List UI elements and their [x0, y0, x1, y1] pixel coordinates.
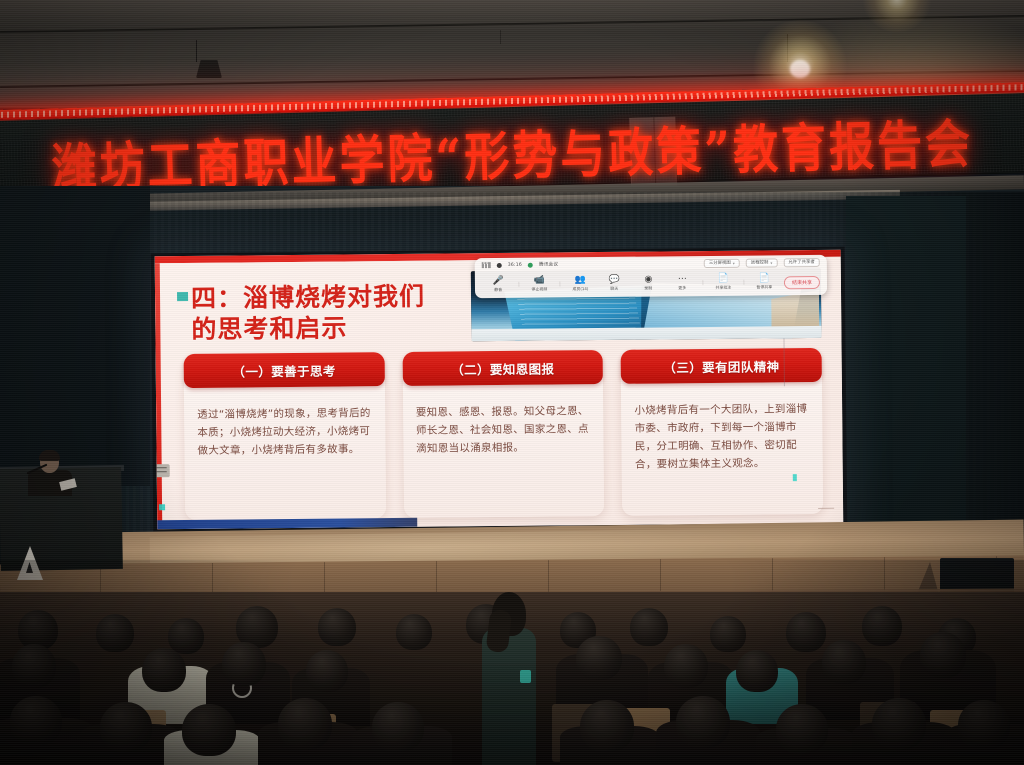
right-wall-panel [846, 196, 966, 568]
projection-screen: 四：淄博烧烤对我们 的思考和启示 36:16 [151, 247, 848, 542]
participants-icon: 👥 [575, 276, 586, 285]
audience-head [958, 700, 1010, 750]
audience-head [920, 632, 966, 678]
card-header-label: （一）要善于思考 [232, 360, 335, 380]
slide-title-line-2: 的思考和启示 [191, 311, 511, 345]
audience-head [96, 614, 134, 652]
allow-annotate-label: 允许了共享者 [788, 259, 814, 265]
slide-title-line-1: 四：淄博烧烤对我们 [191, 281, 511, 315]
clock-icon [497, 262, 502, 267]
audience-head [222, 642, 266, 686]
meeting-tool-video[interactable]: 📹 停止视频 [523, 276, 556, 292]
audience-head [872, 698, 926, 750]
card-body-text: 透过“淄博烧烤”的现象，思考背后的本质；小烧烤拉动大经济，小烧烤可做大文章，小烧… [184, 392, 385, 470]
record-icon: ◉ [644, 276, 652, 285]
audience-head [372, 702, 424, 752]
tool-label: 聊天 [611, 286, 619, 292]
projected-slide: 四：淄博烧烤对我们 的思考和启示 36:16 [155, 250, 844, 530]
tool-label: 停止视频 [532, 287, 548, 293]
meeting-timer: 36:16 [508, 262, 522, 267]
audience-head [142, 648, 186, 692]
signal-icon [482, 262, 491, 268]
chevron-down-icon: ▾ [733, 260, 735, 265]
audience-head [676, 696, 730, 748]
audience-head [580, 700, 634, 752]
meeting-tool-mute[interactable]: 🎤 静音 [482, 277, 515, 293]
end-share-button[interactable]: 结束共享 [784, 275, 820, 288]
left-wall-panel [0, 186, 150, 486]
audience-head [168, 618, 204, 654]
card-header: （三）要有团队精神 [621, 348, 822, 384]
chevron-down-icon: ▾ [770, 260, 772, 265]
screen-teal-marker [793, 474, 797, 481]
tool-label: 暂停共享 [757, 285, 773, 291]
pause-share-icon: 📄 [759, 274, 770, 283]
slide-title: 四：淄博烧烤对我们 的思考和启示 [191, 281, 512, 345]
audience-head [278, 698, 332, 750]
audience-head [776, 704, 828, 754]
audience-head [10, 696, 62, 746]
card-header-label: （三）要有团队精神 [663, 356, 779, 376]
audience-head [100, 702, 152, 752]
app-logo-icon [528, 262, 533, 267]
meeting-tool-row: 🎤 静音 | 📹 停止视频 | 👥 成员(14) 💬 [475, 269, 827, 298]
audience-head [12, 644, 56, 688]
tool-separator: | [741, 280, 747, 286]
audience-head [182, 704, 236, 756]
audience-head [822, 640, 866, 684]
tool-separator: | [700, 280, 706, 286]
audience-head [630, 608, 668, 646]
meeting-tool-chat[interactable]: 💬 聊天 [598, 276, 631, 292]
meeting-tool-record[interactable]: ◉ 录制 [632, 275, 665, 291]
card-header-label: （二）要知恩图报 [451, 358, 554, 378]
tool-label: 录制 [645, 286, 653, 292]
audience-head [396, 614, 432, 650]
remote-control-label: 远程控制 [751, 259, 769, 265]
audience-head [862, 606, 902, 646]
tool-label: 更多 [679, 285, 687, 291]
meeting-toolbar[interactable]: 36:16 腾讯会议 三分屏视图 ▾ 远程控制 ▾ 允许了共享者 [475, 255, 827, 298]
tool-separator: | [516, 282, 522, 288]
meeting-tool-more[interactable]: ⋯ 更多 [666, 275, 699, 291]
slide-cards: （一）要善于思考 透过“淄博烧烤”的现象，思考背后的本质；小烧烤拉动大经济，小烧… [184, 354, 824, 520]
audience-head [736, 650, 778, 692]
slide-corner-mark [818, 507, 834, 509]
screen-teal-marker [159, 504, 165, 510]
audience-head [318, 608, 356, 646]
chat-icon: 💬 [609, 276, 620, 285]
auditorium-photo: 潍坊工商职业学院“形势与政策”教育报告会 四：淄博烧烤对我们 的思考和启示 [0, 0, 1024, 765]
allow-annotate-button[interactable]: 允许了共享者 [783, 257, 819, 266]
standing-attendee [478, 592, 542, 765]
meeting-app-name: 腾讯会议 [539, 261, 558, 267]
lanyard-badge-icon [520, 670, 531, 683]
meeting-tool-pause-share[interactable]: 📄 暂停共享 [748, 274, 781, 290]
card-header: （二）要知恩图报 [402, 350, 603, 386]
slide-card: （三）要有团队精神 小烧烤背后有一个大团队，上到淄博市委、市政府，下到每一个淄博… [621, 354, 823, 516]
tool-separator: | [557, 281, 563, 287]
microphone-icon: 🎤 [493, 277, 504, 286]
annotate-icon: 📄 [718, 275, 729, 284]
audience-head [786, 612, 826, 652]
remote-control-button[interactable]: 远程控制 ▾ [746, 258, 778, 267]
camera-icon: 📹 [534, 277, 545, 286]
meeting-tool-annotate[interactable]: 📄 共享批注 [707, 275, 740, 291]
meeting-tool-participants[interactable]: 👥 成员(14) [564, 276, 597, 292]
view-mode-label: 三分屏视图 [709, 260, 731, 266]
tool-label: 静音 [495, 287, 503, 293]
title-marker-icon [177, 292, 188, 301]
slide-card: （一）要善于思考 透过“淄博烧烤”的现象，思考背后的本质；小烧烤拉动大经济，小烧… [184, 358, 386, 520]
card-body-text: 小烧烤背后有一个大团队，上到淄博市委、市政府，下到每一个淄博市民，分工明确、互相… [621, 388, 823, 484]
tool-label: 共享批注 [716, 285, 732, 291]
audience-head [306, 650, 348, 692]
more-icon: ⋯ [678, 275, 687, 284]
view-mode-dropdown[interactable]: 三分屏视图 ▾ [704, 258, 740, 267]
audience-head [664, 644, 708, 688]
card-header: （一）要善于思考 [184, 352, 385, 388]
card-body-text: 要知恩、感恩、报恩。知父母之恩、师长之恩、社会知恩、国家之恩、点滴知恩当以涌泉相… [403, 390, 604, 468]
slide-card: （二）要知恩图报 要知恩、感恩、报恩。知父母之恩、师长之恩、社会知恩、国家之恩、… [402, 356, 604, 518]
tool-label: 成员(14) [572, 286, 588, 292]
screen-menu-icon[interactable] [155, 464, 170, 477]
seated-presenter [28, 452, 72, 492]
audience-head [576, 636, 622, 680]
audience-head [710, 616, 746, 652]
